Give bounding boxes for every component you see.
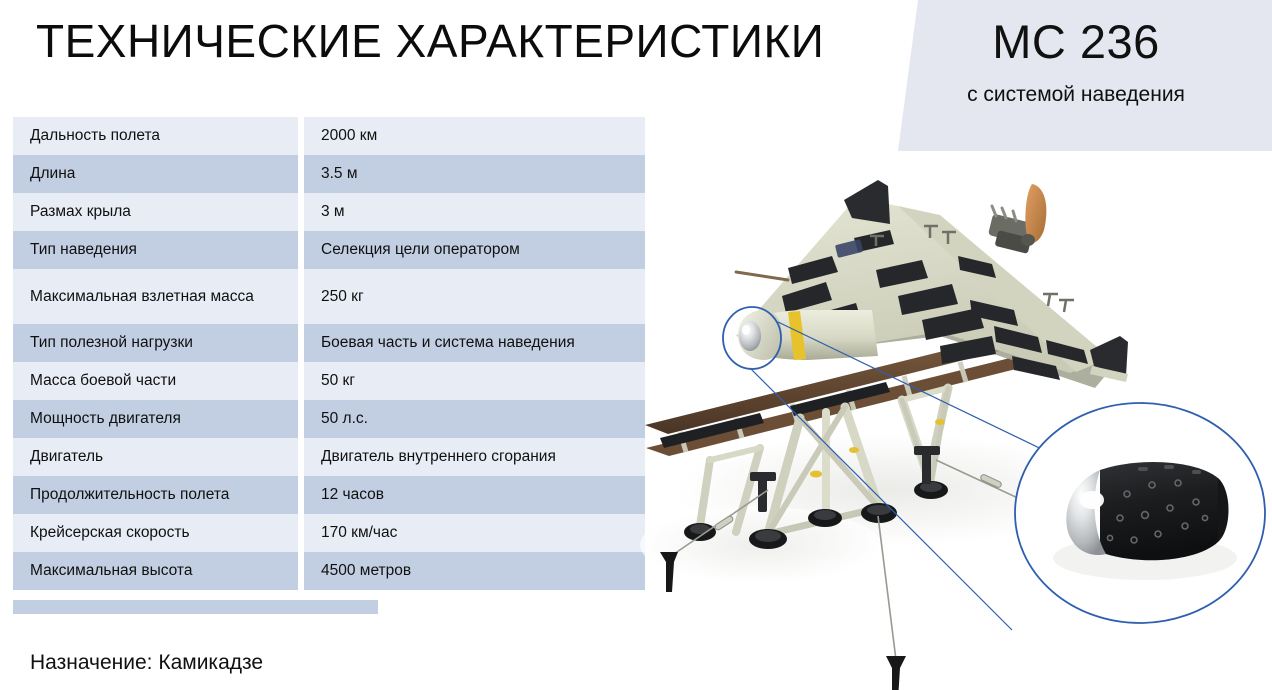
nose-seeker-lens xyxy=(739,321,761,351)
spec-value: 50 кг xyxy=(301,362,645,400)
slide-root: ТЕХНИЧЕСКИЕ ХАРАКТЕРИСТИКИ MC 236 с сист… xyxy=(0,0,1272,690)
uav-on-launcher-photo xyxy=(640,160,1272,690)
spec-label: Максимальная высота xyxy=(13,552,301,590)
spec-label: Масса боевой части xyxy=(13,362,301,400)
table-row: Длина 3.5 м xyxy=(13,155,645,193)
spec-label: Тип наведения xyxy=(13,231,301,269)
table-row: Максимальная взлетная масса 250 кг xyxy=(13,269,645,324)
spec-value: 50 л.с. xyxy=(301,400,645,438)
spec-label: Тип полезной нагрузки xyxy=(13,324,301,362)
spec-label: Дальность полета xyxy=(13,117,301,155)
table-row: Крейсерская скорость 170 км/час xyxy=(13,514,645,552)
purpose-note: Назначение: Камикадзе xyxy=(30,648,263,678)
spec-label: Двигатель xyxy=(13,438,301,476)
spec-value: 3 м xyxy=(301,193,645,231)
spec-value: 3.5 м xyxy=(301,155,645,193)
spec-label: Крейсерская скорость xyxy=(13,514,301,552)
spec-label: Мощность двигателя xyxy=(13,400,301,438)
spec-table: Дальность полета 2000 км Длина 3.5 м Раз… xyxy=(13,117,645,590)
spec-value: 250 кг xyxy=(301,269,645,324)
table-row: Тип полезной нагрузки Боевая часть и сис… xyxy=(13,324,645,362)
spec-label: Длина xyxy=(13,155,301,193)
model-badge-subtitle: с системой наведения xyxy=(880,81,1272,109)
table-row: Двигатель Двигатель внутреннего сгорания xyxy=(13,438,645,476)
table-row: Максимальная высота 4500 метров xyxy=(13,552,645,590)
table-row: Тип наведения Селекция цели оператором xyxy=(13,231,645,269)
nose-seeker-highlight xyxy=(742,325,750,335)
spec-value: 4500 метров xyxy=(301,552,645,590)
seeker-dome-highlight xyxy=(1080,491,1104,509)
table-row: Дальность полета 2000 км xyxy=(13,117,645,155)
table-row: Продолжительность полета 12 часов xyxy=(13,476,645,514)
page-title: ТЕХНИЧЕСКИЕ ХАРАКТЕРИСТИКИ xyxy=(36,13,824,69)
spec-value: 2000 км xyxy=(301,117,645,155)
spec-value: Боевая часть и система наведения xyxy=(301,324,645,362)
antennas xyxy=(736,272,788,280)
spec-value: 170 км/час xyxy=(301,514,645,552)
spec-label: Размах крыла xyxy=(13,193,301,231)
spec-table-shadow xyxy=(13,600,378,614)
spec-value: Двигатель внутреннего сгорания xyxy=(301,438,645,476)
engine-assembly xyxy=(988,184,1046,254)
spec-label: Максимальная взлетная масса xyxy=(13,269,301,324)
spec-table-body: Дальность полета 2000 км Длина 3.5 м Раз… xyxy=(13,117,645,590)
propeller-blade xyxy=(1025,184,1046,243)
model-badge-title: MC 236 xyxy=(880,12,1272,72)
propeller-hub xyxy=(1021,234,1035,246)
table-row: Размах крыла 3 м xyxy=(13,193,645,231)
table-row: Мощность двигателя 50 л.с. xyxy=(13,400,645,438)
table-row: Масса боевой части 50 кг xyxy=(13,362,645,400)
spec-value: Селекция цели оператором xyxy=(301,231,645,269)
spec-value: 12 часов xyxy=(301,476,645,514)
spec-label: Продолжительность полета xyxy=(13,476,301,514)
